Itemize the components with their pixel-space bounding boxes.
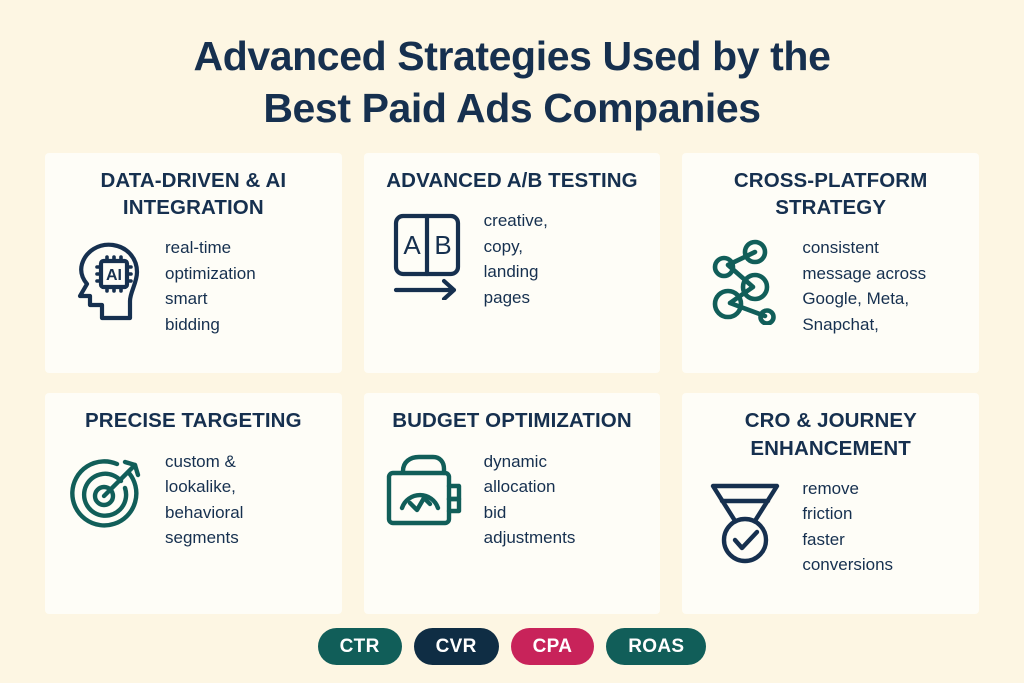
wallet-gauge-icon [384,449,470,531]
page-title-line-2: Best Paid Ads Companies [60,82,964,134]
pill-roas[interactable]: ROAS [606,628,706,665]
card-description: consistent message across Google, Meta, … [802,235,926,337]
head-ai-chip-icon: AI [65,235,151,323]
page-title-line-1: Advanced Strategies Used by the [60,30,964,82]
card-title-line-1: PRECISE [85,409,176,432]
metric-pill-row: CTR CVR CPA ROAS [0,614,1024,683]
card-budget-optimization: BUDGET OPTIMIZATION dynamic all [364,393,661,614]
svg-text:AI: AI [106,267,122,284]
card-title: CRO & JOURNEY ENHANCEMENT [696,407,965,462]
card-description: creative, copy, landing pages [484,208,548,310]
pill-cvr[interactable]: CVR [414,628,499,665]
page-title: Advanced Strategies Used by the Best Pai… [0,0,1024,145]
pill-ctr[interactable]: CTR [318,628,402,665]
ab-test-split-icon: A B [384,208,470,300]
card-cross-platform: CROSS-PLATFORM STRATEGY consistent [682,153,979,374]
card-title-line-2: TARGETING [182,409,302,432]
card-title-line-2: ENHANCEMENT [750,437,911,460]
card-title-line-1: CRO & JOURNEY [745,409,917,432]
card-title: CROSS-PLATFORM STRATEGY [696,167,965,222]
infographic-page: Advanced Strategies Used by the Best Pai… [0,0,1024,683]
svg-text:A: A [403,230,421,260]
card-title-line-2: STRATEGY [775,196,886,219]
svg-text:B: B [434,230,451,260]
card-precise-targeting: PRECISE TARGETING custom & lookalike, [45,393,342,614]
card-cro-journey: CRO & JOURNEY ENHANCEMENT remove frictio… [682,393,979,614]
card-title-line-1: CROSS-PLATFORM [734,169,927,192]
card-data-driven-ai: DATA-DRIVEN & AI INTEGRATION AI [45,153,342,374]
card-description: remove friction faster conversions [802,476,893,578]
funnel-check-icon [702,476,788,564]
card-description: custom & lookalike, behavioral segments [165,449,243,551]
card-title-line-2: OPTIMIZATION [485,409,632,432]
card-description: real-time optimization smart bidding [165,235,256,337]
card-title: DATA-DRIVEN & AI INTEGRATION [59,167,328,222]
card-title-line-1: ADVANCED [386,169,501,192]
card-title: BUDGET OPTIMIZATION [392,407,632,434]
card-description: dynamic allocation bid adjustments [484,449,576,551]
card-ab-testing: ADVANCED A/B TESTING A B creative, copy, [364,153,661,374]
card-title: ADVANCED A/B TESTING [386,167,637,194]
card-title-line-1: DATA-DRIVEN & [100,169,260,192]
card-title-line-1: BUDGET [392,409,479,432]
card-title: PRECISE TARGETING [85,407,302,434]
target-arrow-icon [65,449,151,533]
pill-cpa[interactable]: CPA [511,628,595,665]
strategy-card-grid: DATA-DRIVEN & AI INTEGRATION AI [0,145,1024,614]
card-title-line-2: A/B TESTING [507,169,638,192]
network-nodes-icon [702,235,788,325]
